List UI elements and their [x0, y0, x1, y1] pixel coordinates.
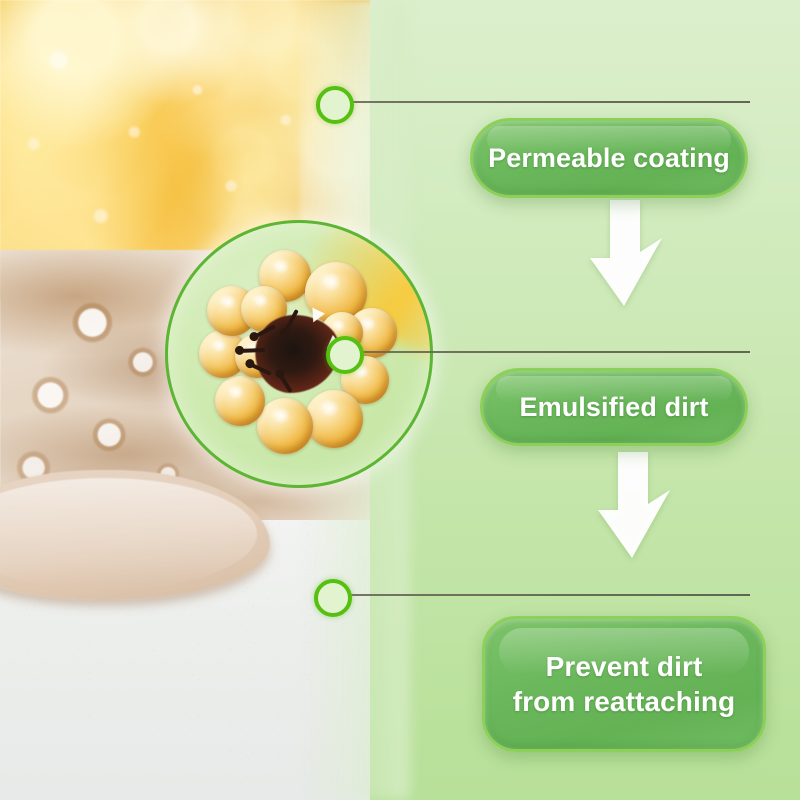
step-pill-label: Permeable coating	[488, 143, 730, 174]
step-pill-line-1: Prevent dirt	[546, 651, 703, 682]
connector-dot-3[interactable]	[314, 579, 352, 617]
step-pill-label-multiline: Prevent dirt from reattaching	[513, 649, 736, 720]
micelle-diagram	[201, 256, 397, 452]
magnifier-circle	[165, 220, 433, 488]
step-pill-permeable-coating[interactable]: Permeable coating	[470, 118, 748, 198]
infographic-canvas: Permeable coating Emulsified dirt Preven…	[0, 0, 800, 800]
arrow-down-1	[578, 200, 674, 306]
step-pill-emulsified-dirt[interactable]: Emulsified dirt	[480, 368, 748, 446]
connector-dot-2[interactable]	[326, 336, 364, 374]
step-pill-prevent-dirt-from-reattaching[interactable]: Prevent dirt from reattaching	[482, 616, 766, 752]
step-pill-label: Emulsified dirt	[519, 392, 708, 423]
arrow-down-2	[586, 452, 682, 558]
connector-line-2	[348, 351, 750, 353]
connector-line-3	[338, 594, 750, 596]
connector-line-1	[338, 101, 750, 103]
step-pill-line-2: from reattaching	[513, 686, 736, 717]
connector-dot-1[interactable]	[316, 86, 354, 124]
